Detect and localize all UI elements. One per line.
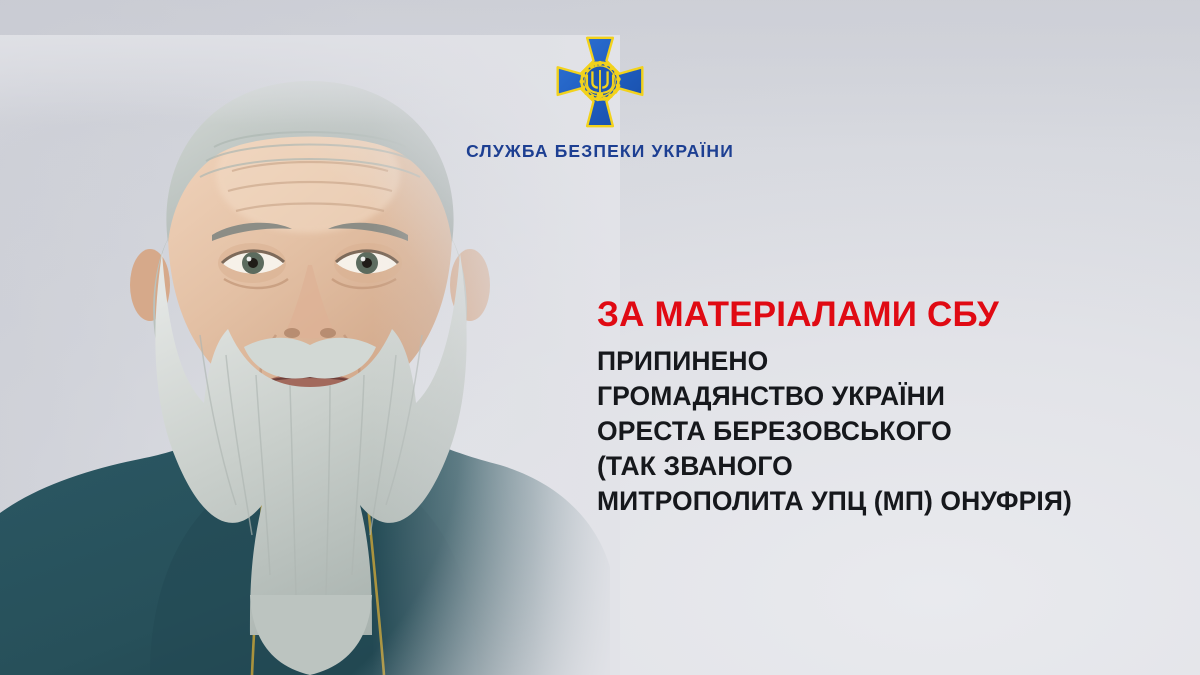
poster-canvas: СЛУЖБА БЕЗПЕКИ УКРАЇНИ ЗА МАТЕРІАЛАМИ СБ… — [0, 0, 1200, 675]
organization-name: СЛУЖБА БЕЗПЕКИ УКРАЇНИ — [466, 141, 734, 162]
body-line-2: ГРОМАДЯНСТВО УКРАЇНИ — [597, 379, 1197, 414]
body-line-3: ОРЕСТА БЕРЕЗОВСЬКОГО — [597, 414, 1197, 449]
sbu-branding: СЛУЖБА БЕЗПЕКИ УКРАЇНИ — [0, 34, 1200, 162]
body-line-4: (ТАК ЗВАНОГО — [597, 449, 1197, 484]
sbu-cross-emblem — [554, 34, 646, 130]
body-line-5: МИТРОПОЛИТА УПЦ (МП) ОНУФРІЯ) — [597, 484, 1197, 519]
headline: ЗА МАТЕРІАЛАМИ СБУ — [597, 296, 1197, 333]
message-block: ЗА МАТЕРІАЛАМИ СБУ ПРИПИНЕНО ГРОМАДЯНСТВ… — [597, 296, 1197, 519]
body-line-1: ПРИПИНЕНО — [597, 344, 1197, 379]
